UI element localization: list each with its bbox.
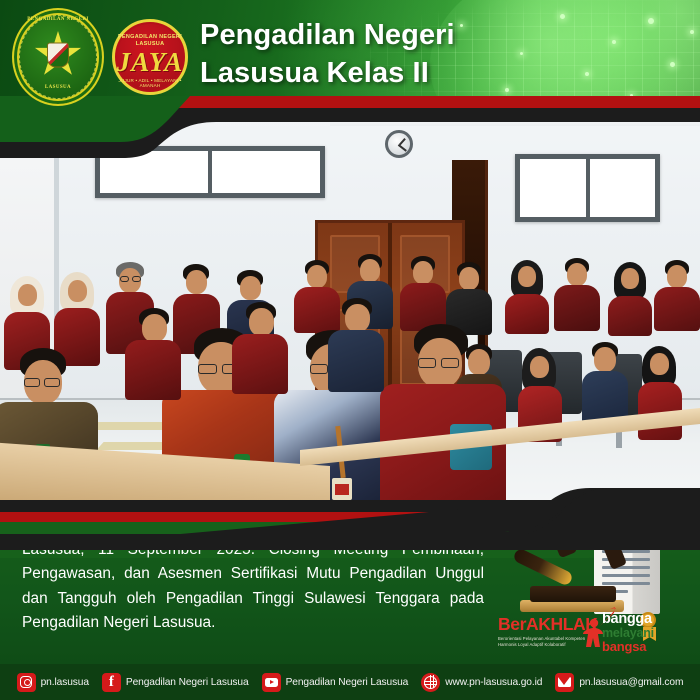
page-title: Pengadilan Negeri Lasusua Kelas II [200, 16, 455, 93]
emblem-bottom-text: LASUSUA [25, 85, 91, 97]
bangga-melayani-bangsa-logo: bangga melayani bangsa [602, 612, 694, 654]
social-youtube[interactable]: Pengadilan Negeri Lasusua [262, 673, 409, 692]
window-right [515, 154, 660, 222]
social-facebook[interactable]: f Pengadilan Negeri Lasusua [102, 673, 249, 692]
courtroom-audience-photo [0, 112, 700, 512]
bangga-line2: melayani [602, 627, 694, 641]
logo-group: PENGADILAN NEGERI LASUSUA PENGADILAN NEG… [12, 8, 188, 106]
social-instagram-label: pn.lasusua [41, 677, 89, 688]
header-banner: PENGADILAN NEGERI LASUSUA PENGADILAN NEG… [0, 0, 700, 118]
social-email-label: pn.lasusua@gmail.com [579, 677, 683, 688]
footer-social-bar: pn.lasusua f Pengadilan Negeri Lasusua P… [0, 664, 700, 700]
gavel-and-certificate-icon [514, 516, 682, 620]
social-email[interactable]: pn.lasusua@gmail.com [555, 673, 683, 692]
poster-root: PENGADILAN NEGERI LASUSUA PENGADILAN NEG… [0, 0, 700, 700]
youtube-icon[interactable] [262, 673, 281, 692]
branding-row: BerAKHLAK Berorientasi Pelayanan Akuntab… [498, 612, 694, 656]
globe-icon[interactable] [421, 673, 440, 692]
jaya-motto: JUJUR • ADIL • MELAYANI • AMANAH [112, 78, 188, 88]
wall-clock-icon [385, 130, 413, 158]
caption-text: Lasusua, 11 September 2025. Closing Meet… [22, 538, 484, 635]
social-website[interactable]: www.pn-lasusua.go.id [421, 673, 542, 692]
social-website-label: www.pn-lasusua.go.id [445, 677, 542, 688]
jaya-badge-icon: PENGADILAN NEGERI LASUSUA JAYA JUJUR • A… [112, 19, 188, 95]
social-instagram[interactable]: pn.lasusua [17, 673, 89, 692]
instagram-icon[interactable] [17, 673, 36, 692]
facebook-icon[interactable]: f [102, 673, 121, 692]
jaya-line1: PENGADILAN NEGERI [112, 34, 188, 40]
pengadilan-negeri-emblem-icon: PENGADILAN NEGERI LASUSUA [12, 8, 104, 106]
emblem-top-text: PENGADILAN NEGERI [25, 17, 91, 29]
bangga-figure-icon [582, 618, 606, 648]
title-line-1: Pengadilan Negeri [200, 16, 455, 54]
window-left [95, 146, 325, 198]
bangga-line1: bangga [602, 612, 694, 627]
jaya-word: JAYA [112, 47, 188, 78]
title-line-2: Lasusua Kelas II [200, 54, 455, 92]
social-youtube-label: Pengadilan Negeri Lasusua [286, 677, 409, 688]
bangga-line3: bangsa [602, 640, 694, 654]
social-facebook-label: Pengadilan Negeri Lasusua [126, 677, 249, 688]
email-icon[interactable] [555, 673, 574, 692]
caption-section: Lasusua, 11 September 2025. Closing Meet… [0, 512, 700, 664]
